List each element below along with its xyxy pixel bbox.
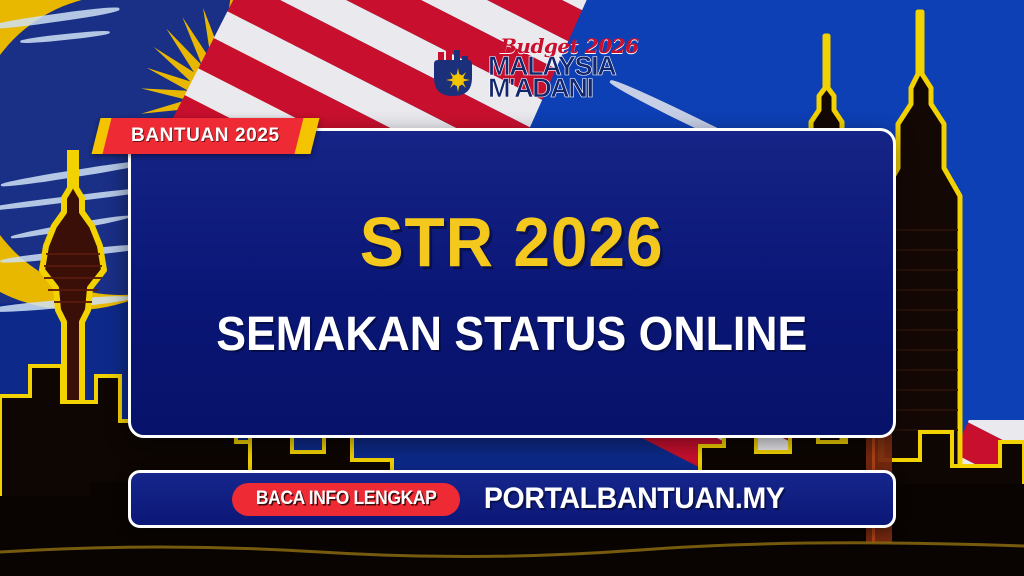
site-url-label: PORTALBANTUAN.MY	[484, 482, 785, 516]
madani-text: M'ADANI	[488, 75, 639, 102]
read-more-label: BACA INFO LENGKAP	[256, 488, 437, 510]
footer-bar[interactable]: BACA INFO LENGKAP PORTALBANTUAN.MY	[128, 470, 896, 528]
page-subtitle: SEMAKAN STATUS ONLINE	[216, 311, 807, 359]
madani-wordmark: Budget 2026 MALAYSIA M'ADANI	[488, 36, 639, 102]
poster-root: Budget 2026 MALAYSIA M'ADANI BANTUAN 202…	[0, 0, 1024, 576]
badge-label: BANTUAN 2025	[131, 125, 280, 147]
badge-body: BANTUAN 2025	[103, 118, 309, 154]
malaysia-madani-logo: Budget 2026 MALAYSIA M'ADANI	[424, 24, 610, 114]
read-more-pill[interactable]: BACA INFO LENGKAP	[232, 483, 460, 516]
madani-emblem-icon	[424, 38, 482, 100]
page-title: STR 2026	[360, 207, 664, 277]
main-card: STR 2026 SEMAKAN STATUS ONLINE	[128, 128, 896, 438]
bantuan-badge: BANTUAN 2025	[96, 118, 315, 154]
